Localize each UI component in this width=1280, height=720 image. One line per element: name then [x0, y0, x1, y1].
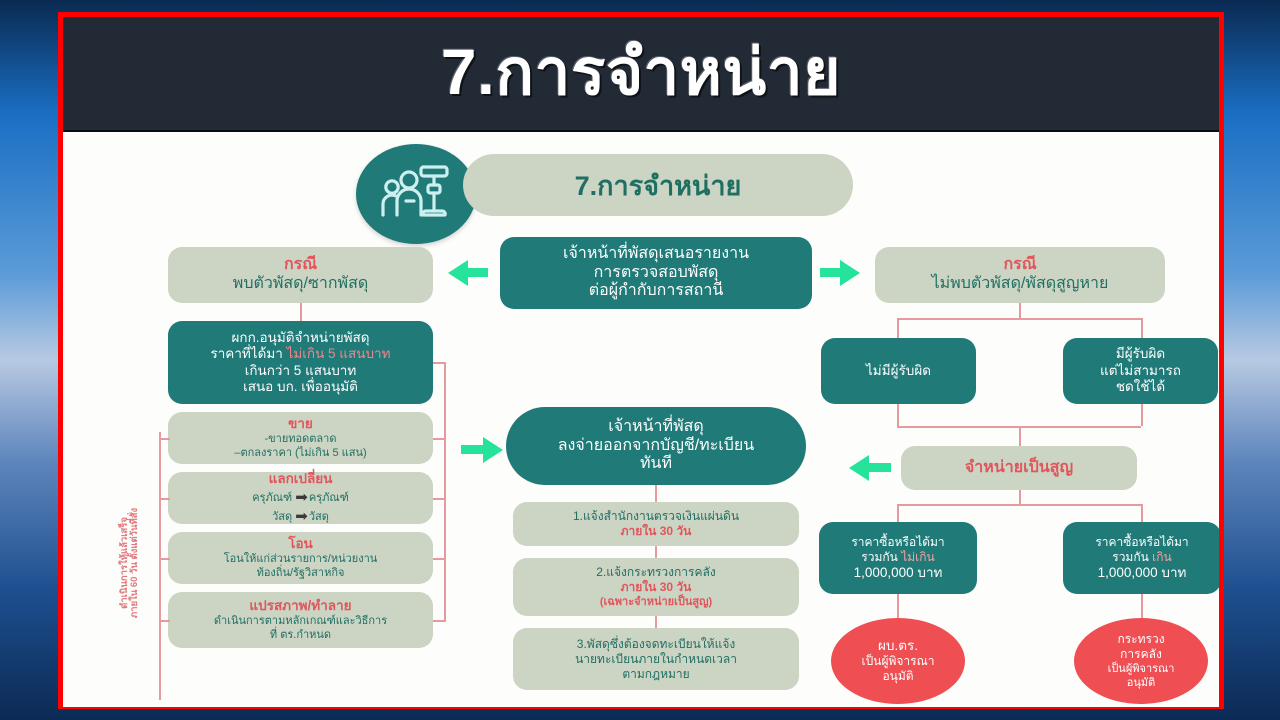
method-sale-title: ขาย: [288, 416, 313, 432]
left-approval-line3: เกินกว่า 5 แสนบาท: [245, 363, 357, 379]
connector-left-case-to-approval: [300, 303, 302, 321]
right-case-label: กรณี: [1003, 256, 1036, 275]
connector-destroy-left: [159, 620, 170, 622]
page-title: 7.การจำหน่าย: [441, 40, 841, 104]
connector-center-mid-to-steps: [655, 485, 657, 502]
price-over-line2-prefix: รวมกัน: [1112, 550, 1152, 564]
center-mid-line3: ทันที: [640, 455, 672, 474]
arrow-to-left-case: [448, 260, 468, 286]
connector-transfer-right: [433, 558, 446, 560]
right-branch-no-liable: ไม่มีผู้รับผิด: [821, 338, 976, 404]
auction-gavel-people-icon: [356, 144, 476, 244]
method-exchange-row2: วัสดุ ➡ วัสดุ: [272, 506, 329, 525]
connector-merge-right-up: [1141, 404, 1143, 426]
right-branch-no-liable-text: ไม่มีผู้รับผิด: [866, 363, 931, 379]
center-mid-line2: ลงจ่ายออกจากบัญชี/ทะเบียน: [558, 437, 754, 456]
arrow-tail-right-mid: [869, 463, 891, 472]
method-transfer-title: โอน: [288, 536, 313, 552]
connector-approval-to-bus: [433, 362, 446, 364]
diagram-canvas: 7.การจำหน่าย เจ้าหน้าที่พัสดุเสนอรายงาน …: [63, 132, 1219, 707]
null-sale-title: จำหน่ายเป็นสูญ: [965, 459, 1073, 478]
exchange-row1-from: ครุภัณฑ์: [252, 492, 292, 504]
slide-header: 7.การจำหน่าย: [63, 17, 1219, 132]
connector-right-split: [897, 318, 1141, 320]
center-step-2-line1: 2.แจ้งกระทรวงการคลัง: [596, 565, 715, 580]
left-case-box: กรณี พบตัวพัสดุ/ซากพัสดุ: [168, 247, 433, 303]
price-over-line2: รวมกัน เกิน: [1112, 550, 1171, 565]
method-box-sale: ขาย -ขายทอดตลาด –ตกลงราคา (ไม่เกิน 5 แสน…: [168, 412, 433, 464]
connector-price-split-left: [897, 504, 899, 522]
arrow-right-icon-2: ➡: [295, 507, 306, 526]
arrow-to-center-mid: [483, 437, 503, 463]
price-under-line2-highlight: ไม่เกิน: [901, 550, 935, 564]
right-branch-liable-line1: มีผู้รับผิด: [1116, 346, 1165, 362]
center-step-2: 2.แจ้งกระทรวงการคลัง ภายใน 30 วัน (เฉพาะ…: [513, 558, 799, 616]
center-mid-box: เจ้าหน้าที่พัสดุ ลงจ่ายออกจากบัญชี/ทะเบี…: [506, 407, 806, 485]
center-step-1-line1: 1.แจ้งสำนักงานตรวจเงินแผ่นดิน: [573, 509, 739, 524]
left-approval-line1: ผกก.อนุมัติจำหน่ายพัสดุ: [231, 330, 369, 346]
arrow-to-center-mid-from-right: [849, 455, 869, 481]
method-sale-line1: -ขายทอดตลาด: [264, 432, 336, 446]
connector-left-bus-right: [444, 362, 446, 562]
connector-right-case-down: [1019, 303, 1021, 318]
center-mid-line1: เจ้าหน้าที่พัสดุ: [608, 418, 704, 437]
left-case-label: กรณี: [284, 256, 317, 275]
center-step-3-line3: ตามกฎหมาย: [622, 667, 689, 682]
connector-right-split-right: [1141, 318, 1143, 338]
approver-commissioner-line2: เป็นผู้พิจารณา: [862, 654, 935, 669]
connector-left-bus-left: [159, 432, 161, 700]
method-transfer-line1: โอนให้แก่ส่วนรายการ/หน่วยงาน: [224, 552, 378, 566]
approver-circle-commissioner: ผบ.ตร. เป็นผู้พิจารณา อนุมัติ: [831, 618, 965, 704]
center-top-line2: การตรวจสอบพัสดุ: [594, 264, 719, 283]
method-transfer-line2: ท้องถิ่น/รัฐวิสาหกิจ: [257, 566, 345, 580]
method-sale-line2: –ตกลงราคา (ไม่เกิน 5 แสน): [234, 446, 366, 460]
price-box-under: ราคาซื้อหรือได้มา รวมกัน ไม่เกิน 1,000,0…: [819, 522, 977, 594]
slide-frame: 7.การจำหน่าย 7.การจำหน่าย เจ้าห: [58, 12, 1224, 709]
arrow-to-right-case: [840, 260, 860, 286]
right-case-text: ไม่พบตัวพัสดุ/พัสดุสูญหาย: [932, 275, 1109, 294]
connector-price-over-to-approver: [1141, 594, 1143, 618]
connector-right-split-left: [897, 318, 899, 338]
approver-ministry-line3: เป็นผู้พิจารณา: [1108, 662, 1175, 676]
right-branch-liable-line3: ชดใช้ได้: [1116, 379, 1165, 395]
left-approval-line4: เสนอ บก. เพื่ออนุมัติ: [243, 379, 358, 395]
left-case-text: พบตัวพัสดุ/ซากพัสดุ: [233, 275, 368, 294]
method-destroy-line2: ที่ ตร.กำหนด: [270, 628, 331, 642]
method-exchange-title: แลกเปลี่ยน: [269, 471, 333, 487]
price-over-line2-highlight: เกิน: [1152, 550, 1172, 564]
center-step-1-line2: ภายใน 30 วัน: [621, 524, 692, 539]
price-over-line1: ราคาซื้อหรือได้มา: [1095, 535, 1188, 550]
connector-exchange-right: [433, 498, 446, 500]
connector-merge-left-up: [897, 404, 899, 426]
arrow-tail-left-top: [468, 268, 488, 277]
price-under-line2-prefix: รวมกัน: [861, 550, 901, 564]
right-case-box: กรณี ไม่พบตัวพัสดุ/พัสดุสูญหาย: [875, 247, 1165, 303]
price-box-over: ราคาซื้อหรือได้มา รวมกัน เกิน 1,000,000 …: [1063, 522, 1219, 594]
approver-commissioner-line1: ผบ.ตร.: [878, 638, 918, 654]
connector-null-sale-down: [1019, 490, 1021, 504]
center-step-2-line3: (เฉพาะจำหน่ายเป็นสูญ): [600, 595, 712, 609]
method-box-transfer: โอน โอนให้แก่ส่วนรายการ/หน่วยงาน ท้องถิ่…: [168, 532, 433, 584]
center-top-line3: ต่อผู้กำกับการสถานี: [589, 282, 724, 301]
left-approval-line2-prefix: ราคาที่ได้มา: [210, 346, 286, 361]
price-under-line2: รวมกัน ไม่เกิน: [861, 550, 934, 565]
diagram-title-pill: 7.การจำหน่าย: [463, 154, 853, 216]
method-exchange-row1: ครุภัณฑ์ ➡ ครุภัณฑ์: [252, 487, 348, 506]
arrow-tail-center-mid: [461, 445, 483, 454]
left-approval-line2-highlight: ไม่เกิน 5 แสนบาท: [287, 346, 391, 361]
arrow-right-icon: ➡: [295, 488, 306, 507]
connector-sale-right: [433, 438, 446, 440]
left-approval-box: ผกก.อนุมัติจำหน่ายพัสดุ ราคาที่ได้มา ไม่…: [168, 321, 433, 404]
exchange-row2-from: วัสดุ: [272, 511, 292, 523]
right-branch-liable: มีผู้รับผิด แต่ไม่สามารถ ชดใช้ได้: [1063, 338, 1218, 404]
exchange-row1-to: ครุภัณฑ์: [309, 492, 349, 504]
approver-ministry-line2: การคลัง: [1120, 647, 1162, 662]
left-side-note-line2: ภายใน 60 วัน ตั้งแต่วันที่สั่ง: [129, 508, 140, 618]
approver-circle-ministry: กระทรวง การคลัง เป็นผู้พิจารณา อนุมัติ: [1074, 618, 1208, 704]
center-top-line1: เจ้าหน้าที่พัสดุเสนอรายงาน: [563, 245, 749, 264]
connector-destroy-bus-right: [444, 562, 446, 622]
connector-step2-step3: [655, 616, 657, 628]
center-step-3: 3.พัสดุซึ่งต้องจดทะเบียนให้แจ้ง นายทะเบี…: [513, 628, 799, 690]
price-under-line3: 1,000,000 บาท: [854, 565, 943, 581]
left-approval-line2: ราคาที่ได้มา ไม่เกิน 5 แสนบาท: [210, 346, 390, 362]
exchange-row2-to: วัสดุ: [309, 511, 329, 523]
method-box-exchange: แลกเปลี่ยน ครุภัณฑ์ ➡ ครุภัณฑ์ วัสดุ ➡ ว…: [168, 472, 433, 524]
connector-sale-left: [159, 438, 170, 440]
approver-ministry-line4: อนุมัติ: [1127, 676, 1156, 690]
null-sale-box: จำหน่ายเป็นสูญ: [901, 446, 1137, 490]
center-top-box: เจ้าหน้าที่พัสดุเสนอรายงาน การตรวจสอบพัส…: [500, 237, 812, 309]
left-side-note-2: ภายใน 60 วัน ตั้งแต่วันที่สั่ง: [129, 493, 141, 633]
approver-ministry-line1: กระทรวง: [1117, 632, 1164, 647]
method-box-destroy: แปรสภาพ/ทำลาย ดำเนินการตามหลักเกณฑ์และวิ…: [168, 592, 433, 648]
connector-price-under-to-approver: [897, 594, 899, 618]
connector-step1-step2: [655, 546, 657, 558]
diagram-title-text: 7.การจำหน่าย: [575, 164, 742, 207]
connector-price-split: [897, 504, 1141, 506]
connector-exchange-left: [159, 498, 170, 500]
right-branch-liable-line2: แต่ไม่สามารถ: [1100, 363, 1181, 379]
connector-transfer-left: [159, 558, 170, 560]
connector-merge-down: [1019, 426, 1021, 446]
approver-commissioner-line3: อนุมัติ: [882, 669, 913, 684]
price-under-line1: ราคาซื้อหรือได้มา: [851, 535, 944, 550]
center-step-3-line1: 3.พัสดุซึ่งต้องจดทะเบียนให้แจ้ง: [577, 637, 735, 652]
method-destroy-title: แปรสภาพ/ทำลาย: [249, 598, 351, 614]
center-step-2-line2: ภายใน 30 วัน: [621, 580, 692, 595]
method-destroy-line1: ดำเนินการตามหลักเกณฑ์และวิธีการ: [214, 614, 387, 628]
price-over-line3: 1,000,000 บาท: [1098, 565, 1187, 581]
arrow-tail-right-top: [820, 268, 840, 277]
center-step-3-line2: นายทะเบียนภายในกำหนดเวลา: [575, 652, 737, 667]
connector-price-split-right: [1141, 504, 1143, 522]
center-step-1: 1.แจ้งสำนักงานตรวจเงินแผ่นดิน ภายใน 30 ว…: [513, 502, 799, 546]
